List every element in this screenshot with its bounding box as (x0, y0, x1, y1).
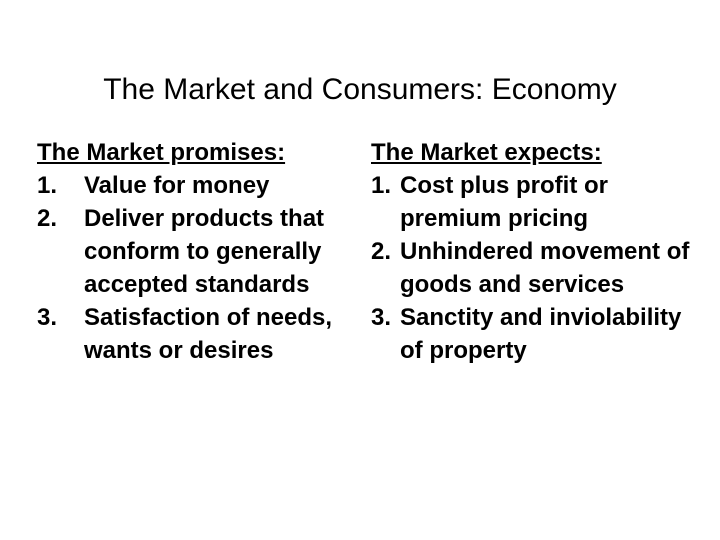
column-heading-wrapper: The Market expects: (371, 136, 691, 169)
list-item: 2. Deliver products that conform to gene… (37, 202, 357, 301)
column-heading-market-promises: The Market promises: (37, 136, 285, 169)
page-title: The Market and Consumers: Economy (0, 72, 720, 108)
list-item-number: 1. (371, 169, 391, 202)
list-item-number: 2. (37, 202, 57, 235)
list-item-number: 3. (371, 301, 391, 334)
column-heading-market-expects: The Market expects: (371, 136, 602, 169)
list-item-text: Satisfaction of needs, wants or desires (84, 301, 357, 367)
list-market-expects: 1. Cost plus profit or premium pricing 2… (371, 169, 691, 367)
slide: The Market and Consumers: Economy The Ma… (0, 0, 720, 540)
list-item-number: 2. (371, 235, 391, 268)
list-item-text: Deliver products that conform to general… (84, 202, 357, 301)
list-item: 3. Satisfaction of needs, wants or desir… (37, 301, 357, 367)
list-item: 1. Cost plus profit or premium pricing (371, 169, 691, 235)
list-market-promises: 1. Value for money 2. Deliver products t… (37, 169, 357, 367)
column-market-expects: The Market expects: 1. Cost plus profit … (371, 136, 691, 367)
list-item: 2. Unhindered movement of goods and serv… (371, 235, 691, 301)
column-heading-wrapper: The Market promises: (37, 136, 357, 169)
list-item-text: Cost plus profit or premium pricing (400, 169, 691, 235)
list-item-text: Unhindered movement of goods and service… (400, 235, 691, 301)
list-item-text: Sanctity and inviolability of property (400, 301, 691, 367)
column-market-promises: The Market promises: 1. Value for money … (37, 136, 357, 367)
list-item: 3. Sanctity and inviolability of propert… (371, 301, 691, 367)
list-item-number: 3. (37, 301, 57, 334)
list-item-number: 1. (37, 169, 57, 202)
list-item: 1. Value for money (37, 169, 357, 202)
list-item-text: Value for money (84, 169, 357, 202)
